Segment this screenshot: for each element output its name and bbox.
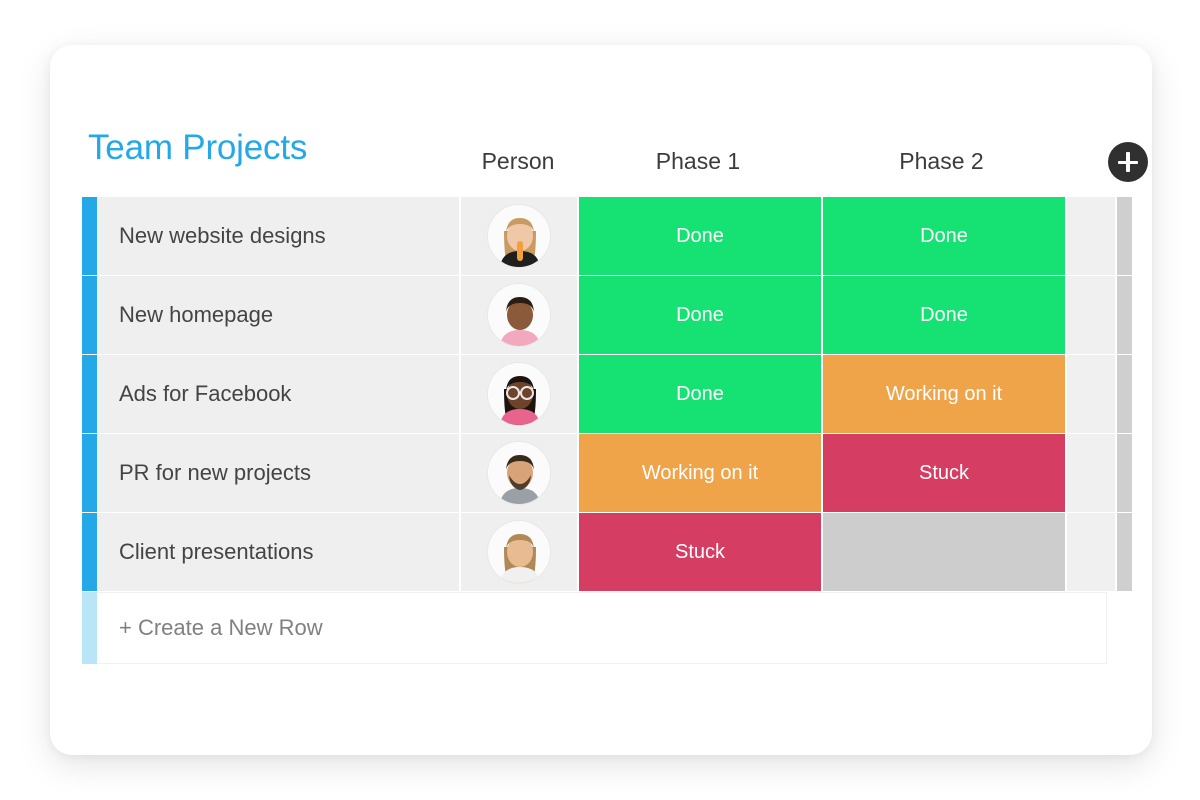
board-grid: New website designsDoneDoneNew homepageD… [82,197,1122,709]
table-row[interactable]: New homepageDoneDone [82,276,1122,354]
row-name-cell[interactable]: New homepage [97,276,459,354]
avatar [488,363,550,425]
scrollbar-thumb[interactable] [1117,434,1132,512]
create-new-row-label[interactable]: + Create a New Row [97,592,1107,664]
row-accent-bar [82,355,97,433]
row-extra-cell[interactable] [1067,355,1115,433]
row-accent-bar [82,513,97,591]
scrollbar-thumb[interactable] [1117,197,1132,275]
status-cell-phase-1[interactable]: Stuck [579,513,821,591]
board-card: Team Projects Person Phase 1 Phase 2 New… [50,45,1152,755]
row-extra-cell[interactable] [1067,513,1115,591]
vertical-scrollbar[interactable] [1117,513,1132,591]
vertical-scrollbar[interactable] [1117,434,1132,512]
scrollbar-thumb-footer [1107,592,1122,664]
row-extra-cell[interactable] [1067,434,1115,512]
status-cell-phase-2[interactable]: Working on it [823,355,1065,433]
vertical-scrollbar[interactable] [1117,355,1132,433]
column-header-phase-1[interactable]: Phase 1 [576,148,820,175]
row-person-cell[interactable] [461,434,577,512]
page-title: Team Projects [88,128,307,168]
table-row[interactable]: PR for new projectsWorking on itStuck [82,434,1122,512]
row-accent-bar [82,434,97,512]
scrollbar-thumb[interactable] [1117,355,1132,433]
status-cell-phase-1[interactable]: Done [579,355,821,433]
row-name-cell[interactable]: PR for new projects [97,434,459,512]
status-cell-phase-2[interactable]: Done [823,276,1065,354]
row-extra-cell[interactable] [1067,197,1115,275]
table-row[interactable]: Client presentationsStuck [82,513,1122,591]
vertical-scrollbar-footer [1107,592,1122,664]
row-accent-bar [82,197,97,275]
row-person-cell[interactable] [461,355,577,433]
vertical-scrollbar[interactable] [1117,276,1132,354]
status-cell-phase-2[interactable]: Done [823,197,1065,275]
row-person-cell[interactable] [461,276,577,354]
row-person-cell[interactable] [461,197,577,275]
status-cell-phase-2[interactable] [823,513,1065,591]
status-cell-phase-1[interactable]: Done [579,197,821,275]
avatar [488,442,550,504]
plus-icon-vertical [1126,152,1130,172]
avatar [488,205,550,267]
add-column-button[interactable] [1108,142,1148,182]
row-name-cell[interactable]: New website designs [97,197,459,275]
row-accent-bar [82,276,97,354]
vertical-scrollbar[interactable] [1117,197,1132,275]
avatar [488,521,550,583]
row-name-cell[interactable]: Ads for Facebook [97,355,459,433]
column-header-phase-2[interactable]: Phase 2 [820,148,1063,175]
scrollbar-thumb[interactable] [1117,276,1132,354]
status-cell-phase-2[interactable]: Stuck [823,434,1065,512]
avatar [488,284,550,346]
screen: Team Projects Person Phase 1 Phase 2 New… [0,0,1200,800]
row-person-cell[interactable] [461,513,577,591]
status-cell-phase-1[interactable]: Done [579,276,821,354]
row-extra-cell[interactable] [1067,276,1115,354]
row-name-cell[interactable]: Client presentations [97,513,459,591]
table-row[interactable]: New website designsDoneDone [82,197,1122,275]
new-row-accent-bar [82,592,97,664]
scrollbar-thumb[interactable] [1117,513,1132,591]
status-cell-phase-1[interactable]: Working on it [579,434,821,512]
create-new-row[interactable]: + Create a New Row [82,592,1122,664]
table-row[interactable]: Ads for FacebookDoneWorking on it [82,355,1122,433]
board-header: Team Projects Person Phase 1 Phase 2 [88,120,1120,198]
column-header-person[interactable]: Person [460,148,576,175]
